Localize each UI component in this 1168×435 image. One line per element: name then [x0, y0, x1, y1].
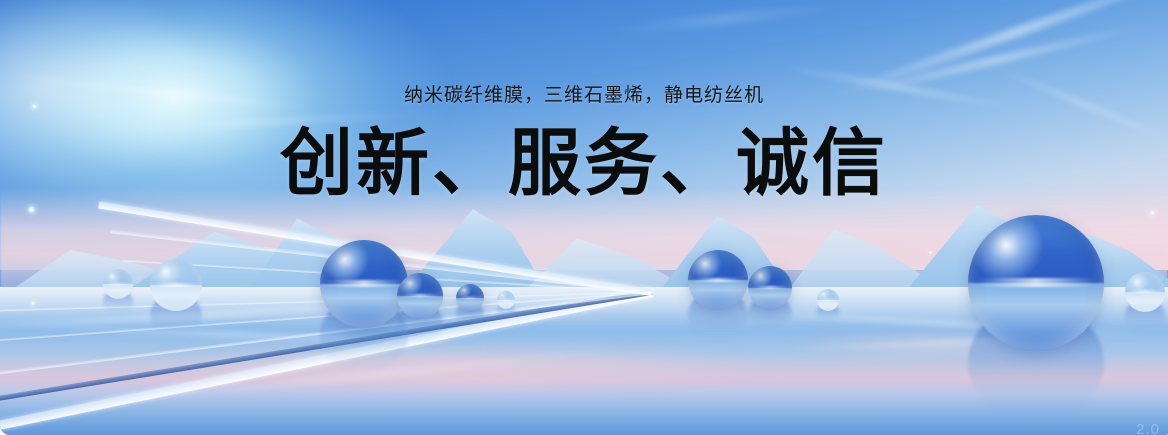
- sphere-left-main: [320, 240, 408, 328]
- sphere-right-large: [968, 215, 1104, 351]
- corner-watermark: 2.0: [1136, 421, 1160, 435]
- sparkle-4-icon: [1150, 210, 1155, 215]
- sphere-center-a: [497, 291, 515, 309]
- sphere-right-near: [748, 266, 792, 310]
- sphere-right-mid: [688, 250, 748, 310]
- sphere-right-tiny: [817, 289, 839, 311]
- sparkle-5-icon: [929, 251, 932, 254]
- banner-subtitle: 纳米碳纤维膜，三维石墨烯，静电纺丝机: [0, 86, 1168, 105]
- banner-text-block: 纳米碳纤维膜，三维石墨烯，静电纺丝机 创新、服务、诚信: [0, 0, 1168, 202]
- sparkle-3-icon: [31, 301, 35, 305]
- sphere-left-tiny: [103, 269, 133, 299]
- sphere-left-mid: [397, 273, 443, 319]
- sparkle-2-icon: [28, 206, 35, 213]
- hero-banner: 纳米碳纤维膜，三维石墨烯，静电纺丝机 创新、服务、诚信 2.0: [0, 0, 1168, 435]
- sphere-far-right: [1125, 272, 1165, 312]
- sphere-left-small: [150, 259, 202, 311]
- sphere-left-pill: [456, 284, 484, 312]
- banner-headline: 创新、服务、诚信: [0, 125, 1168, 202]
